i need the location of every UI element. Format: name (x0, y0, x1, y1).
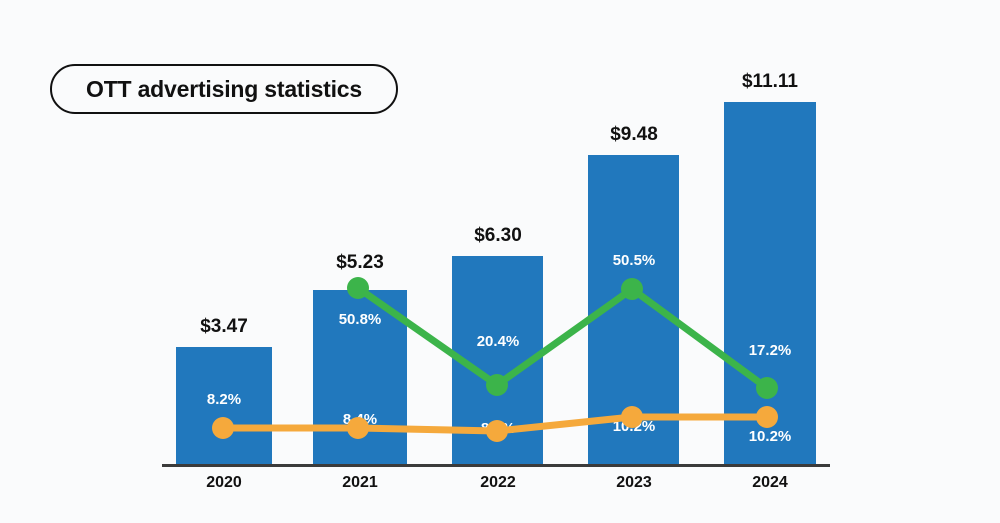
x-tick-2023: 2023 (574, 474, 694, 492)
bar-value-2024: $11.11 (710, 71, 830, 93)
x-tick-2024: 2024 (710, 474, 830, 492)
share-label-2024: 10.2% (710, 428, 830, 445)
share-label-2021: 8.4% (300, 411, 420, 428)
share-label-2020: 8.2% (164, 391, 284, 408)
growth-label-2021: 50.8% (300, 311, 420, 328)
x-tick-2022: 2022 (438, 474, 558, 492)
plot-area: $3.47 $5.23 $6.30 $9.48 $11.11 50.8% 20.… (0, 0, 1000, 523)
x-axis-line (162, 464, 830, 467)
share-label-2022: 8.2% (438, 420, 558, 437)
growth-rate-line (358, 288, 767, 388)
bar-value-2022: $6.30 (438, 225, 558, 247)
x-tick-2021: 2021 (300, 474, 420, 492)
bar-value-2023: $9.48 (574, 124, 694, 146)
growth-label-2024: 17.2% (710, 342, 830, 359)
share-label-2023: 10.2% (574, 418, 694, 435)
chart-canvas: OTT advertising statistics $3.47 $5.23 $… (0, 0, 1000, 523)
bar-value-2021: $5.23 (300, 252, 420, 274)
growth-label-2023: 50.5% (574, 252, 694, 269)
bar-2024[interactable] (724, 102, 816, 464)
x-tick-2020: 2020 (164, 474, 284, 492)
bar-value-2020: $3.47 (164, 316, 284, 338)
growth-label-2022: 20.4% (438, 333, 558, 350)
